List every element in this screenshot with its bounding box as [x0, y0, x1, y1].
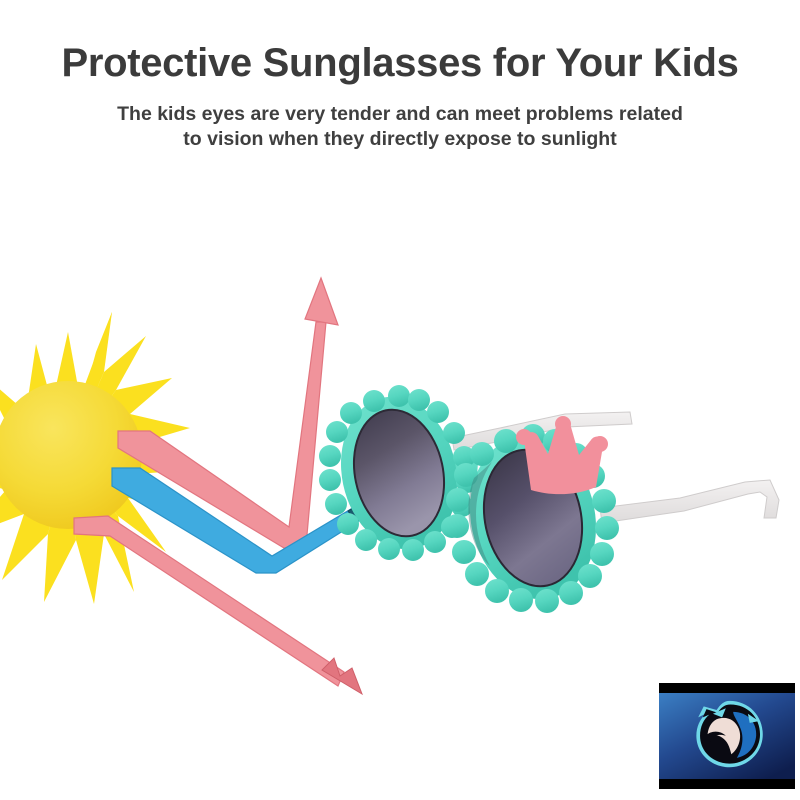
sun-core — [0, 381, 142, 529]
kids-sunglasses — [319, 385, 779, 613]
logo-letterbox-bottom — [659, 779, 795, 789]
logo-letterbox-top — [659, 683, 795, 693]
infographic-canvas: Protective Sunglasses for Your Kids The … — [0, 0, 800, 800]
illustration-scene — [0, 0, 800, 800]
temple-arm-lower — [600, 480, 779, 523]
brand-logo-badge[interactable] — [659, 683, 795, 789]
wolf-head-icon — [659, 693, 795, 779]
